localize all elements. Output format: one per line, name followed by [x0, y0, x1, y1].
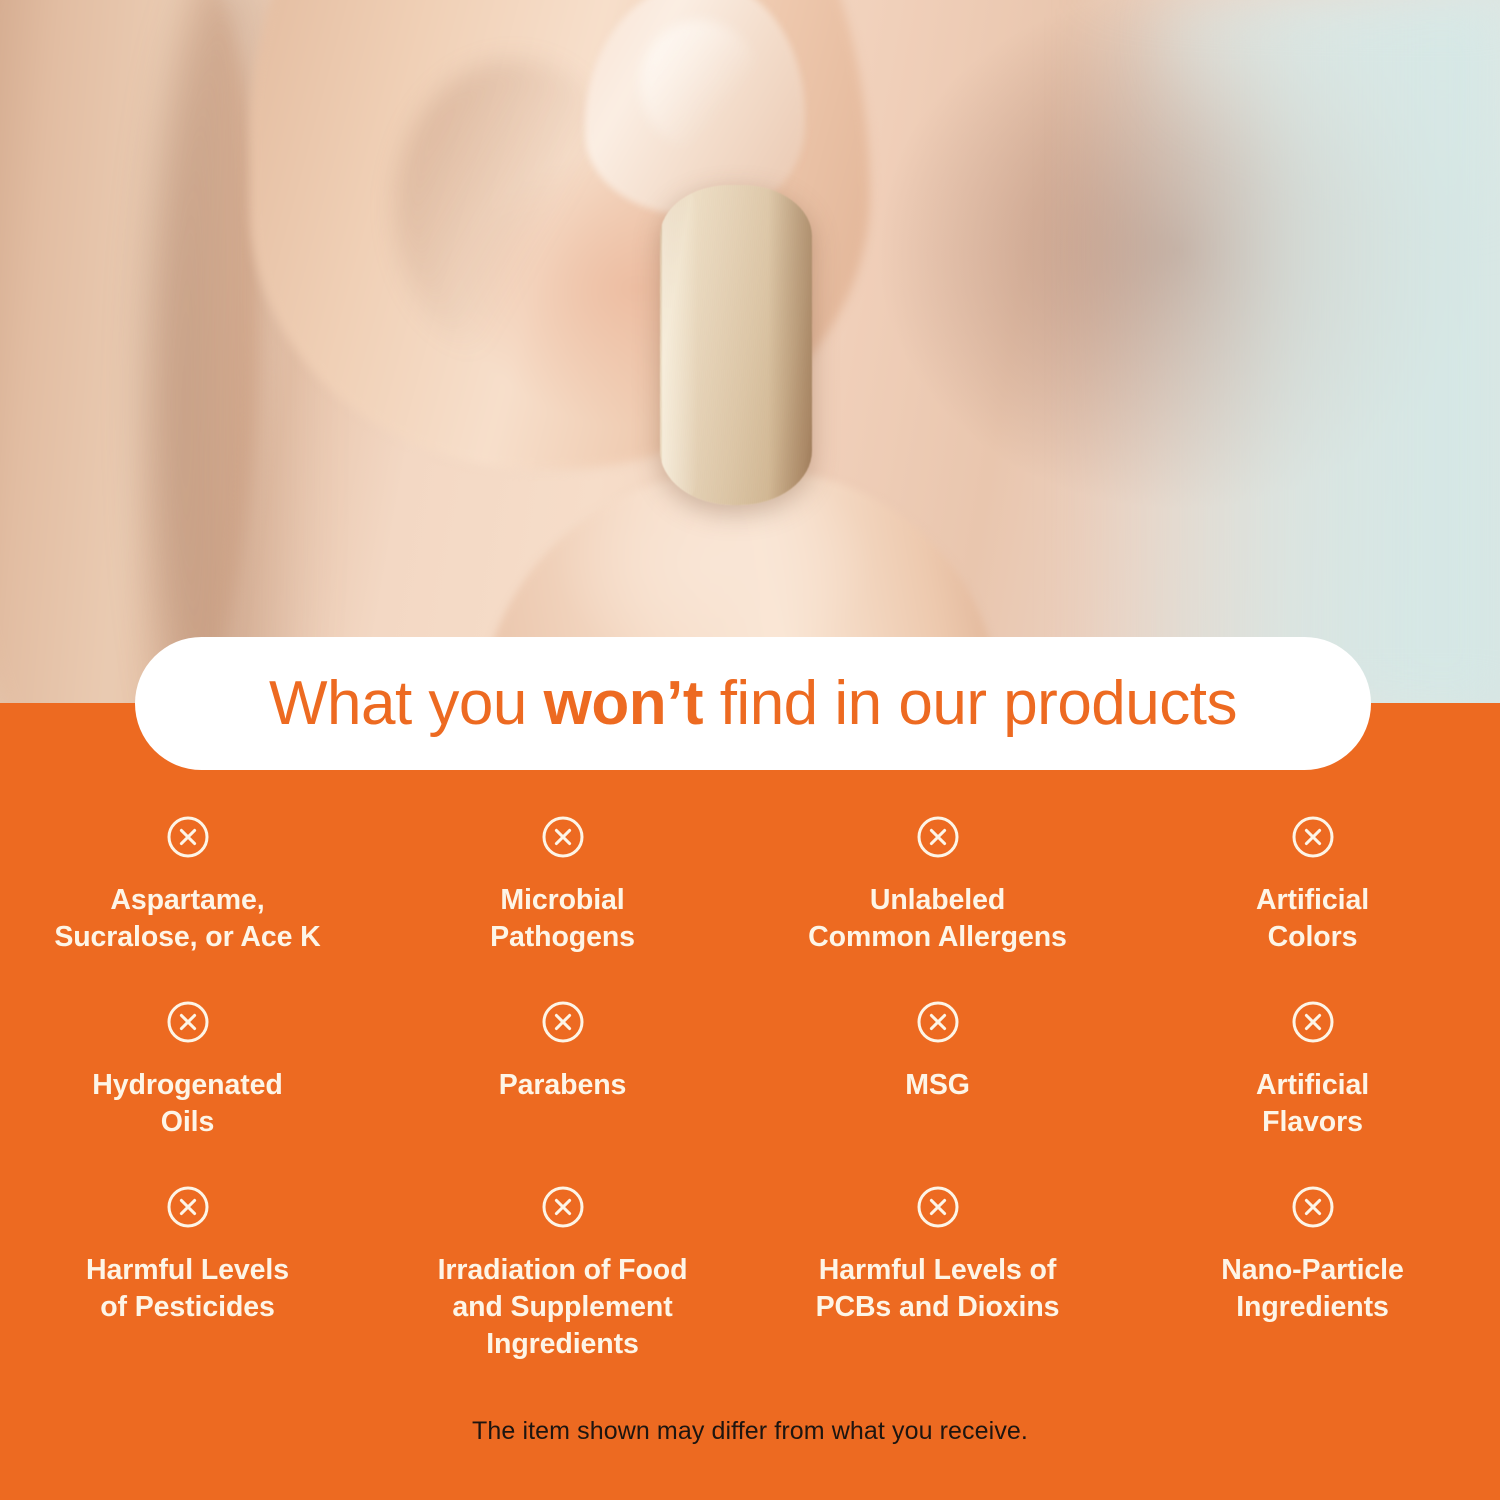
claim-label: MSG: [905, 1067, 970, 1104]
circle-x-icon: [1291, 815, 1335, 859]
circle-x-icon: [916, 1000, 960, 1044]
claim-label: Microbial Pathogens: [490, 882, 635, 956]
thumbnail-highlight: [640, 20, 760, 150]
claim-label: Hydrogenated Oils: [92, 1067, 282, 1141]
product-claims-infographic: Aspartame, Sucralose, or Ace K Microbial…: [0, 0, 1500, 1500]
claim-item-pesticides: Harmful Levels of Pesticides: [0, 1185, 375, 1363]
claim-item-microbial-pathogens: Microbial Pathogens: [375, 815, 750, 956]
claim-label: Nano-Particle Ingredients: [1221, 1252, 1403, 1326]
claim-label: Harmful Levels of Pesticides: [86, 1252, 289, 1326]
page-title: What you won’t find in our products: [269, 673, 1237, 735]
title-emphasis: won’t: [544, 669, 703, 738]
disclaimer-text: The item shown may differ from what you …: [0, 1417, 1500, 1446]
claim-item-nano-particle: Nano-Particle Ingredients: [1125, 1185, 1500, 1363]
claim-item-artificial-flavors: Artificial Flavors: [1125, 1000, 1500, 1141]
claim-item-aspartame: Aspartame, Sucralose, or Ace K: [0, 815, 375, 956]
circle-x-icon: [1291, 1000, 1335, 1044]
claim-item-unlabeled-allergens: Unlabeled Common Allergens: [750, 815, 1125, 956]
title-banner: What you won’t find in our products: [135, 637, 1371, 770]
circle-x-icon: [541, 1185, 585, 1229]
circle-x-icon: [541, 1000, 585, 1044]
claim-item-irradiation: Irradiation of Food and Supplement Ingre…: [375, 1185, 750, 1363]
title-part-1: What you: [269, 669, 544, 738]
claim-label: Harmful Levels of PCBs and Dioxins: [816, 1252, 1060, 1326]
claim-item-hydrogenated-oils: Hydrogenated Oils: [0, 1000, 375, 1141]
title-part-2: find in our products: [703, 669, 1237, 738]
tablet-edge-highlight: [662, 187, 698, 503]
circle-x-icon: [1291, 1185, 1335, 1229]
claim-item-parabens: Parabens: [375, 1000, 750, 1141]
claim-label: Unlabeled Common Allergens: [808, 882, 1067, 956]
claim-item-msg: MSG: [750, 1000, 1125, 1141]
circle-x-icon: [916, 1185, 960, 1229]
circle-x-icon: [541, 815, 585, 859]
claim-item-artificial-colors: Artificial Colors: [1125, 815, 1500, 956]
circle-x-icon: [166, 1000, 210, 1044]
circle-x-icon: [166, 815, 210, 859]
claims-panel: Aspartame, Sucralose, or Ace K Microbial…: [0, 703, 1500, 1500]
claims-grid: Aspartame, Sucralose, or Ace K Microbial…: [0, 815, 1500, 1363]
claim-label: Artificial Flavors: [1256, 1067, 1369, 1141]
circle-x-icon: [916, 815, 960, 859]
supplement-tablet: [660, 185, 812, 505]
tablet-edge-shadow: [768, 185, 812, 505]
claim-label: Irradiation of Food and Supplement Ingre…: [438, 1252, 688, 1363]
claim-label: Parabens: [499, 1067, 627, 1104]
claim-item-pcbs-dioxins: Harmful Levels of PCBs and Dioxins: [750, 1185, 1125, 1363]
circle-x-icon: [166, 1185, 210, 1229]
claim-label: Artificial Colors: [1256, 882, 1369, 956]
product-photo: [0, 0, 1500, 710]
background-mint-wash: [1070, 0, 1500, 710]
claim-label: Aspartame, Sucralose, or Ace K: [54, 882, 320, 956]
